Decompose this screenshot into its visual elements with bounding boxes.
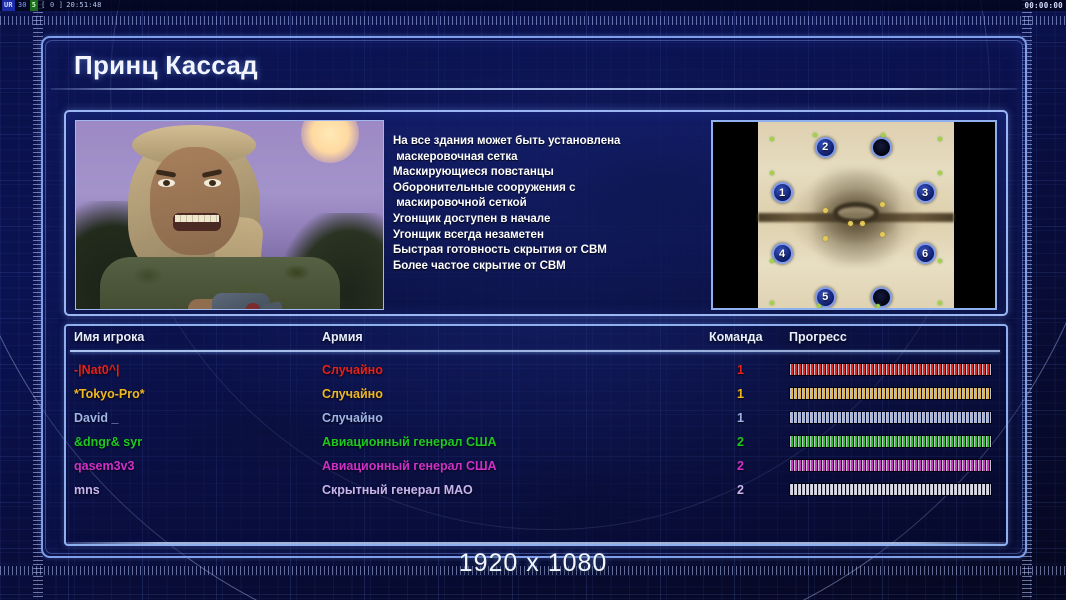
- table-row[interactable]: &dngr& syrАвиационный генерал США2: [70, 430, 1000, 454]
- progress-fill: [790, 412, 991, 423]
- map-resource-marker: [938, 259, 942, 263]
- general-info-panel: На все здания может быть установлена мас…: [64, 110, 1008, 316]
- status-clock: 20:51:48: [66, 0, 101, 11]
- status-bar: UR 30 5 [ 0 ] 20:51:48 00:00:00: [0, 0, 1066, 11]
- map-center-feature: [833, 202, 879, 224]
- map-resource-marker: [770, 301, 774, 305]
- portrait-teeth: [175, 215, 219, 222]
- ability-line: Оборонительные сооружения с: [393, 181, 675, 197]
- player-name: David _: [74, 406, 118, 430]
- map-supply-marker: [860, 221, 865, 226]
- player-table-body: -|Nat0^|Случайно1*Tokyo-Pro*Случайно1Dav…: [70, 358, 1000, 508]
- map-start-position-empty[interactable]: [871, 287, 892, 308]
- map-resource-marker: [938, 301, 942, 305]
- progress-fill: [790, 436, 991, 447]
- player-progress-bar: [789, 411, 992, 424]
- player-army: Авиационный генерал США: [322, 430, 497, 454]
- map-start-position-empty[interactable]: [871, 137, 892, 158]
- player-team: 2: [737, 454, 744, 478]
- portrait-eye-left: [158, 179, 175, 187]
- portrait-face: [150, 147, 240, 255]
- general-portrait: [75, 120, 384, 310]
- status-percent: 5: [30, 0, 38, 11]
- player-army: Скрытный генерал МАО: [322, 478, 473, 502]
- ability-line: Маскирующиеся повстанцы: [393, 165, 675, 181]
- portrait-kettle-highlight: [246, 303, 260, 310]
- player-progress-bar: [789, 363, 992, 376]
- map-start-position-3[interactable]: 3: [915, 182, 936, 203]
- status-tag: UR: [2, 0, 15, 11]
- ability-line: Более частое скрытие от СВМ: [393, 259, 675, 275]
- map-resource-marker: [938, 171, 942, 175]
- ability-line: На все здания может быть установлена: [393, 134, 675, 150]
- resolution-label: 1920 x 1080: [0, 549, 1066, 578]
- player-table-divider: [70, 350, 1000, 352]
- map-resource-marker: [938, 137, 942, 141]
- player-army: Случайно: [322, 406, 383, 430]
- table-row[interactable]: *Tokyo-Pro*Случайно1: [70, 382, 1000, 406]
- player-progress-bar: [789, 387, 992, 400]
- table-row[interactable]: mnsСкрытный генерал МАО2: [70, 478, 1000, 502]
- progress-fill: [790, 460, 991, 471]
- player-team: 2: [737, 430, 744, 454]
- map-start-position-1[interactable]: 1: [772, 182, 793, 203]
- player-table-header: Имя игрока Армия Команда Прогресс: [70, 330, 1000, 352]
- player-army: Случайно: [322, 358, 383, 382]
- map-supply-marker: [823, 208, 828, 213]
- ruler-strip-top: [0, 16, 1066, 25]
- title-divider: [51, 88, 1017, 90]
- player-team: 2: [737, 478, 744, 502]
- map-resource-marker: [817, 304, 821, 308]
- column-header-progress: Прогресс: [789, 330, 847, 344]
- player-progress-bar: [789, 483, 992, 496]
- map-terrain: 213465: [758, 122, 954, 310]
- map-preview[interactable]: 213465: [711, 120, 997, 310]
- map-start-position-6[interactable]: 6: [915, 243, 936, 264]
- ability-line: маскеровочная сетка: [393, 150, 675, 166]
- ability-line: маскировочной сеткой: [393, 196, 675, 212]
- table-row[interactable]: qasem3v3Авиационный генерал США2: [70, 454, 1000, 478]
- progress-fill: [790, 364, 991, 375]
- map-resource-marker: [770, 259, 774, 263]
- status-bracket: [ 0 ]: [41, 0, 63, 11]
- map-supply-marker: [880, 202, 885, 207]
- player-name: -|Nat0^|: [74, 358, 120, 382]
- player-progress-bar: [789, 459, 992, 472]
- ability-line: Угонщик всегда незаметен: [393, 228, 675, 244]
- status-bar-timer: 00:00:00: [1024, 0, 1063, 11]
- player-name: &dngr& syr: [74, 430, 142, 454]
- portrait-mouth: [173, 213, 221, 231]
- map-supply-marker: [848, 221, 853, 226]
- table-row[interactable]: -|Nat0^|Случайно1: [70, 358, 1000, 382]
- map-supply-marker: [823, 236, 828, 241]
- player-name: mns: [74, 478, 100, 502]
- title-bar: Принц Кассад: [43, 38, 1025, 90]
- ability-line: Быстрая готовность скрытия от СВМ: [393, 243, 675, 259]
- map-resource-marker: [770, 137, 774, 141]
- player-army: Случайно: [322, 382, 383, 406]
- player-army: Авиационный генерал США: [322, 454, 497, 478]
- panel-bottom-divider: [64, 542, 1008, 544]
- column-header-team: Команда: [709, 330, 763, 344]
- main-panel: Принц Кассад На все здания может: [41, 36, 1027, 558]
- general-ability-list: На все здания может быть установлена мас…: [393, 134, 675, 274]
- map-start-position-4[interactable]: 4: [772, 243, 793, 264]
- portrait-eye-right: [204, 179, 221, 187]
- map-resource-marker: [813, 133, 817, 137]
- column-header-name: Имя игрока: [74, 330, 144, 344]
- table-row[interactable]: David _Случайно1: [70, 406, 1000, 430]
- ability-line: Угонщик доступен в начале: [393, 212, 675, 228]
- player-team: 1: [737, 406, 744, 430]
- column-header-army: Армия: [322, 330, 363, 344]
- player-team: 1: [737, 382, 744, 406]
- player-name: *Tokyo-Pro*: [74, 382, 145, 406]
- status-bar-left-group: UR 30 5 [ 0 ] 20:51:48: [2, 0, 102, 11]
- map-resource-marker: [770, 171, 774, 175]
- progress-fill: [790, 388, 991, 399]
- player-progress-bar: [789, 435, 992, 448]
- progress-fill: [790, 484, 991, 495]
- page-title: Принц Кассад: [74, 50, 258, 81]
- player-team: 1: [737, 358, 744, 382]
- player-name: qasem3v3: [74, 454, 134, 478]
- status-number: 30: [18, 0, 27, 11]
- map-supply-marker: [880, 232, 885, 237]
- map-start-position-2[interactable]: 2: [815, 137, 836, 158]
